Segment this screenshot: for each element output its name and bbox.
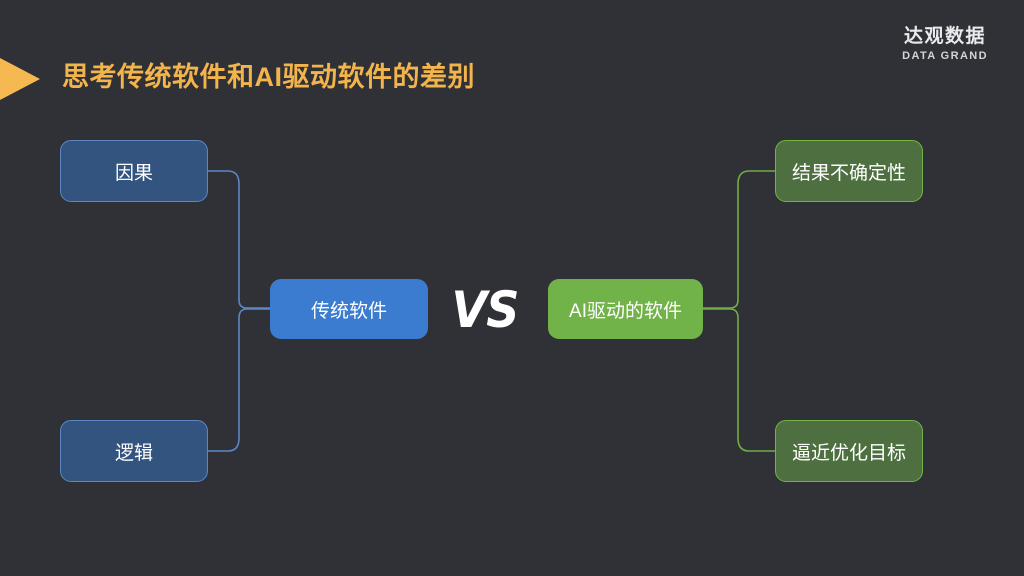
versus-label: VS	[452, 281, 518, 339]
connector-right-bracket	[703, 171, 775, 451]
node-traditional-software[interactable]: 传统软件	[270, 279, 428, 339]
comparison-diagram: 因果 逻辑 传统软件 VS AI驱动的软件 结果不确定性 逼近优化目标	[0, 0, 1024, 576]
node-approach-optimization-goal[interactable]: 逼近优化目标	[775, 420, 923, 482]
connector-left-bracket	[208, 171, 270, 451]
node-ai-driven-software[interactable]: AI驱动的软件	[548, 279, 703, 339]
node-cause[interactable]: 因果	[60, 140, 208, 202]
node-logic[interactable]: 逻辑	[60, 420, 208, 482]
node-result-uncertainty[interactable]: 结果不确定性	[775, 140, 923, 202]
